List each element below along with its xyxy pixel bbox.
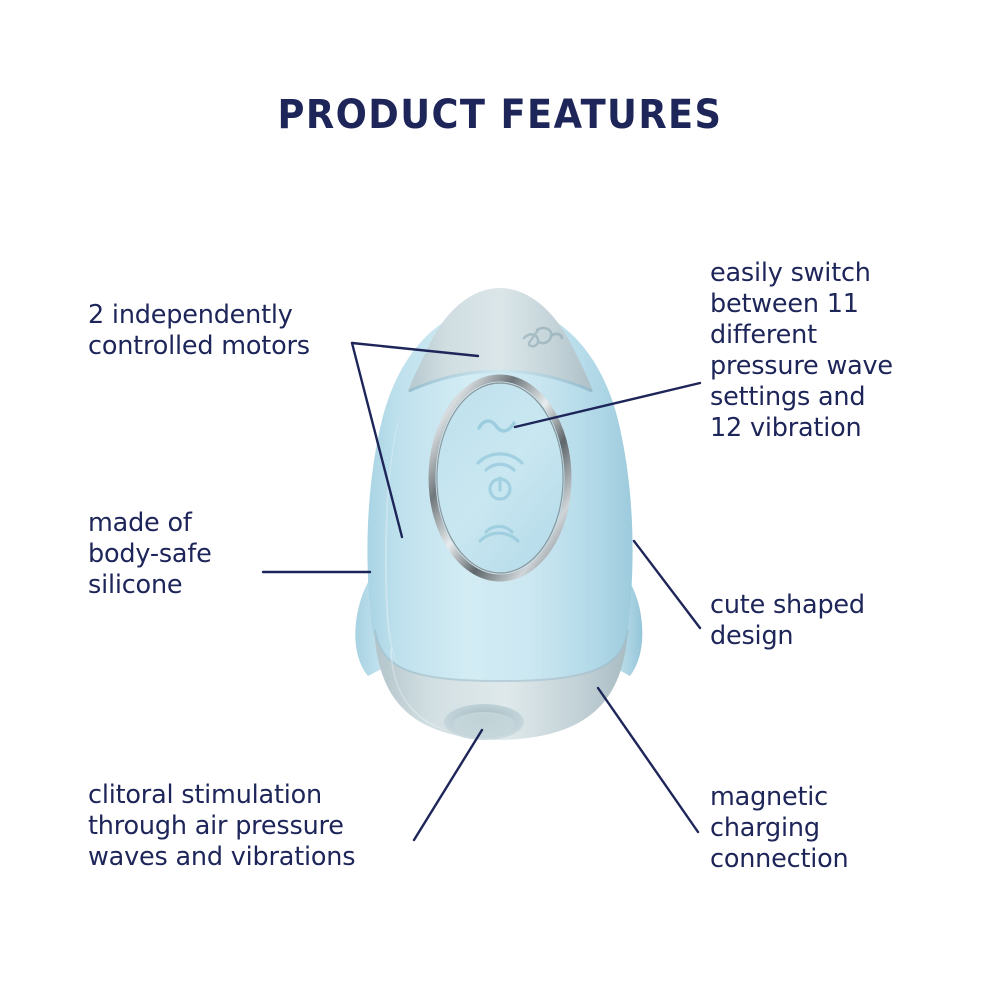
product-illustration [0, 0, 1000, 1000]
product-features-infographic: PRODUCT FEATURES [0, 0, 1000, 1000]
air-pulse-opening-inner [453, 712, 515, 736]
